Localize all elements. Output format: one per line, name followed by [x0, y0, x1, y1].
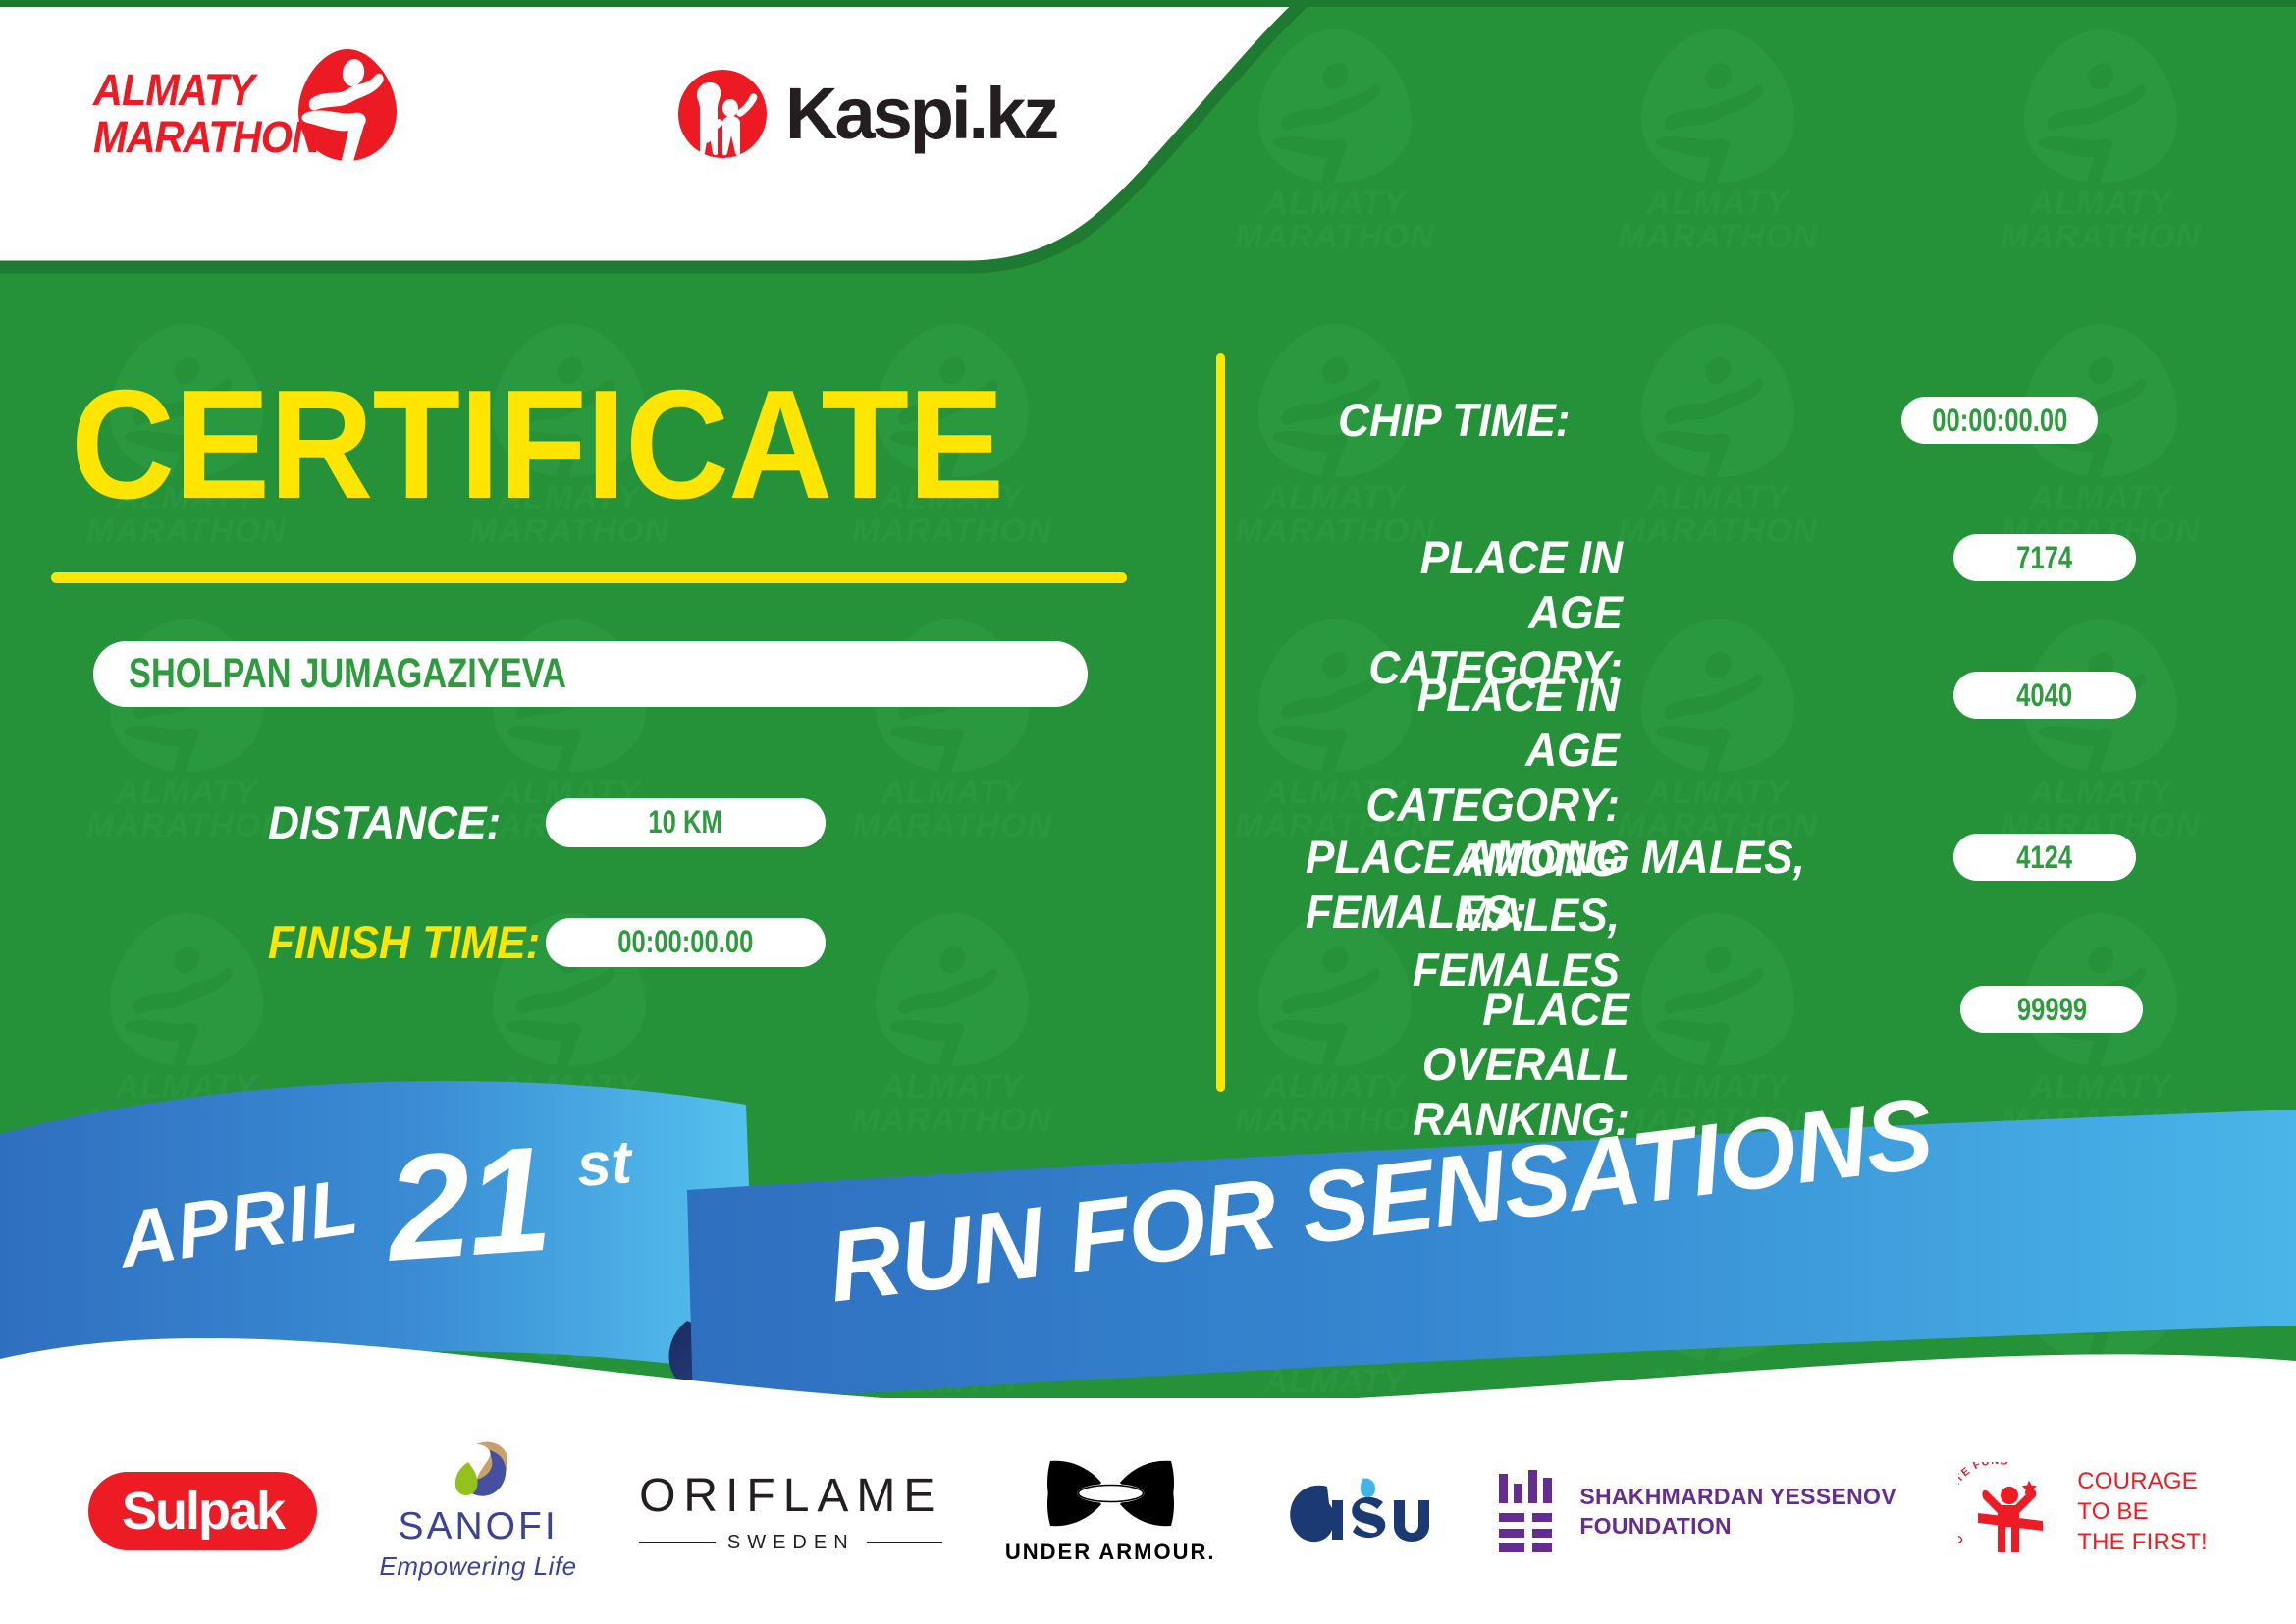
sponsor-under-armour: UNDER ARMOUR. — [1005, 1457, 1216, 1565]
almaty-marathon-logo: ALMATY MARATHON — [93, 47, 417, 160]
sponsor-yessenov-foundation: SHAKHMARDAN YESSENOV FOUNDATION — [1497, 1470, 1896, 1552]
page-title: CERTIFICATE — [71, 371, 1003, 518]
sponsor-asu — [1278, 1471, 1435, 1551]
almaty-marathon-line1: ALMATY — [93, 67, 301, 114]
courage-line2: TO BE — [2077, 1496, 2208, 1527]
finish-time-row: FINISH TIME: 00:00:00.00 — [268, 915, 826, 969]
place-age-category-gender-value: 4040 — [2017, 677, 2073, 714]
distance-row: DISTANCE: 10 KM — [268, 795, 826, 849]
top-border-line — [0, 0, 2296, 7]
asu-wordmark-icon — [1278, 1471, 1435, 1551]
kaspi-mark-icon — [677, 69, 768, 159]
kaspi-logo: Kaspi.kz — [677, 61, 1050, 164]
place-age-category-gender-value-pill: 4040 — [1953, 672, 2136, 719]
yessenov-mark-icon — [1497, 1470, 1558, 1552]
sponsor-logos: Sulpak SANOFI Empowering Life ORIFLAME S… — [0, 1398, 2296, 1624]
almaty-marathon-wordmark: ALMATY MARATHON — [93, 67, 319, 161]
oriflame-wordmark: ORIFLAME — [639, 1469, 942, 1523]
participant-name-field: SHOLPAN JUMAGAZIYEVA — [93, 641, 1088, 707]
sanofi-mark-icon — [439, 1440, 517, 1501]
oriflame-sub: SWEDEN — [727, 1532, 855, 1554]
place-among-gender-label: PLACE AMONG MALES, FEMALES: — [1306, 830, 1805, 940]
sulpak-wordmark: Sulpak — [122, 1482, 284, 1541]
ribbon-day-suffix: st — [575, 1127, 634, 1201]
almaty-marathon-runner-icon — [294, 47, 400, 165]
participant-name-value: SHOLPAN JUMAGAZIYEVA — [93, 650, 566, 698]
yessenov-text: SHAKHMARDAN YESSENOV FOUNDATION — [1579, 1482, 1896, 1541]
courage-line1: COURAGE — [2077, 1466, 2208, 1496]
finish-time-value-pill: 00:00:00.00 — [546, 918, 826, 967]
distance-value-pill: 10 KM — [546, 798, 826, 847]
title-divider-rule — [51, 572, 1127, 583]
courage-line3: THE FIRST! — [2077, 1527, 2208, 1557]
sponsor-courage-fund: CORPORATE FUND COURAGE TO BE THE FIRST! — [1958, 1462, 2208, 1560]
place-overall-ranking-value: 99999 — [2016, 992, 2086, 1028]
oriflame-sub-wrap: SWEDEN — [639, 1532, 942, 1554]
almaty-marathon-line2: MARATHON — [93, 114, 301, 161]
distance-label: DISTANCE: — [268, 795, 529, 849]
courage-fund-text: COURAGE TO BE THE FIRST! — [2077, 1466, 2208, 1557]
place-overall-ranking-value-pill: 99999 — [1960, 986, 2143, 1033]
finish-time-value: 00:00:00.00 — [617, 924, 753, 960]
sponsor-oriflame: ORIFLAME SWEDEN — [639, 1469, 942, 1554]
sanofi-wordmark: SANOFI — [398, 1505, 558, 1548]
distance-value: 10 KM — [649, 804, 722, 840]
sulpak-pill: Sulpak — [88, 1472, 317, 1550]
chip-time-label: CHIP TIME: — [1339, 393, 1571, 448]
place-among-gender-value-pill: 4124 — [1953, 834, 2136, 881]
column-divider — [1216, 353, 1225, 1092]
kaspi-wordmark: Kaspi.kz — [785, 75, 1056, 153]
oriflame-rule-left — [639, 1542, 716, 1543]
chip-time-value: 00:00:00.00 — [1932, 403, 2067, 439]
courage-fund-runner-icon: CORPORATE FUND — [1958, 1462, 2061, 1560]
place-age-category-value-pill: 7174 — [1953, 534, 2136, 581]
yessenov-line1: SHAKHMARDAN YESSENOV — [1579, 1482, 1896, 1511]
finish-time-label: FINISH TIME: — [268, 915, 529, 969]
sponsor-sanofi: SANOFI Empowering Life — [379, 1440, 576, 1582]
sponsor-sulpak: Sulpak — [88, 1472, 317, 1550]
under-armour-mark-icon — [1044, 1457, 1177, 1530]
ribbon-day: 21 — [382, 1113, 554, 1296]
place-among-gender-value: 4124 — [2017, 839, 2073, 876]
oriflame-rule-right — [867, 1542, 943, 1543]
yessenov-line2: FOUNDATION — [1579, 1511, 1896, 1541]
place-age-category-value: 7174 — [2017, 540, 2073, 576]
chip-time-value-pill: 00:00:00.00 — [1901, 397, 2098, 444]
under-armour-wordmark: UNDER ARMOUR. — [1005, 1540, 1216, 1565]
certificate-canvas: ALMATY MARATHON ALMATY MARATHON — [0, 0, 2296, 1624]
sanofi-tagline: Empowering Life — [379, 1551, 576, 1582]
